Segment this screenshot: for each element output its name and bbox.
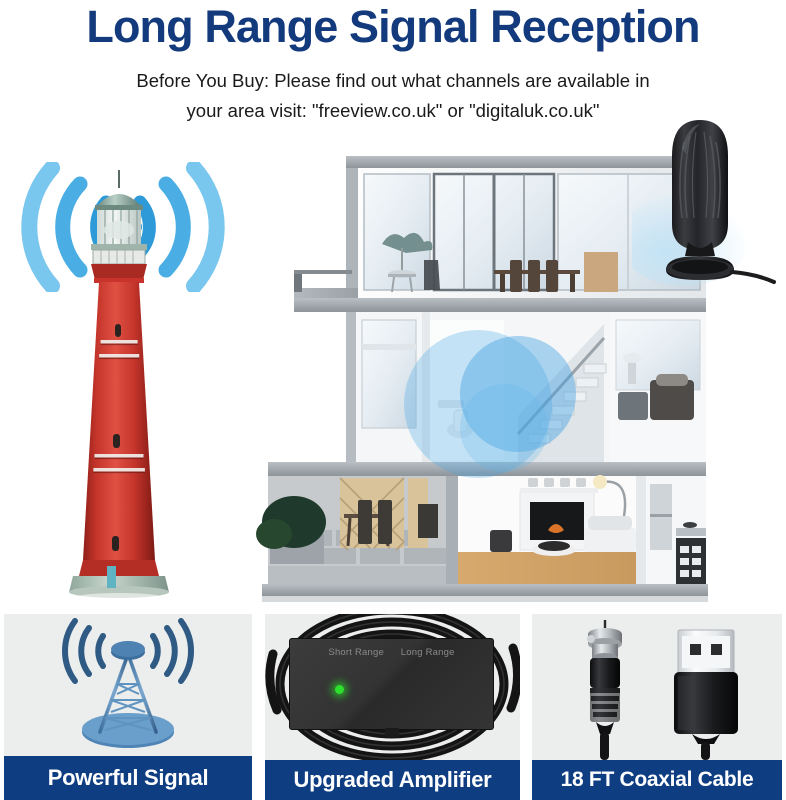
panel-art-powerful-signal	[4, 614, 252, 756]
amplifier-body: Short Range Long Range	[289, 638, 494, 730]
panel-powerful-signal[interactable]: Powerful Signal	[4, 614, 252, 800]
coax-usb-connector-icon	[532, 614, 782, 760]
subtitle-line-1: Before You Buy: Please find out what cha…	[60, 66, 726, 96]
amplifier-mode-labels: Short Range Long Range	[290, 647, 493, 658]
panel-upgraded-amplifier[interactable]: Short Range Long Range Upgraded Amplifie…	[265, 614, 520, 800]
lighthouse-icon	[63, 168, 175, 608]
lighthouse-group	[8, 140, 234, 610]
amplifier-mode-short: Short Range	[328, 647, 384, 658]
tv-antenna-icon	[632, 112, 778, 312]
feature-panels: Powerful Signal	[0, 614, 786, 800]
amplifier-led-indicator	[335, 685, 344, 694]
product-infographic: Long Range Signal Reception Before You B…	[0, 0, 786, 800]
amplifier-mode-long: Long Range	[401, 647, 455, 658]
panel-art-cable	[532, 614, 782, 760]
broadcast-tower-icon	[4, 614, 252, 756]
panel-coaxial-cable[interactable]: 18 FT Coaxial Cable	[532, 614, 782, 800]
panel-art-amplifier: Short Range Long Range	[265, 614, 520, 760]
hero-section	[0, 112, 786, 610]
panel-label-coaxial-cable: 18 FT Coaxial Cable	[532, 760, 782, 800]
panel-label-upgraded-amplifier: Upgraded Amplifier	[265, 760, 520, 800]
page-title: Long Range Signal Reception	[0, 2, 786, 52]
antenna-group	[632, 112, 778, 312]
amplifier-bottom-tab	[385, 728, 399, 737]
panel-label-powerful-signal: Powerful Signal	[4, 756, 252, 800]
